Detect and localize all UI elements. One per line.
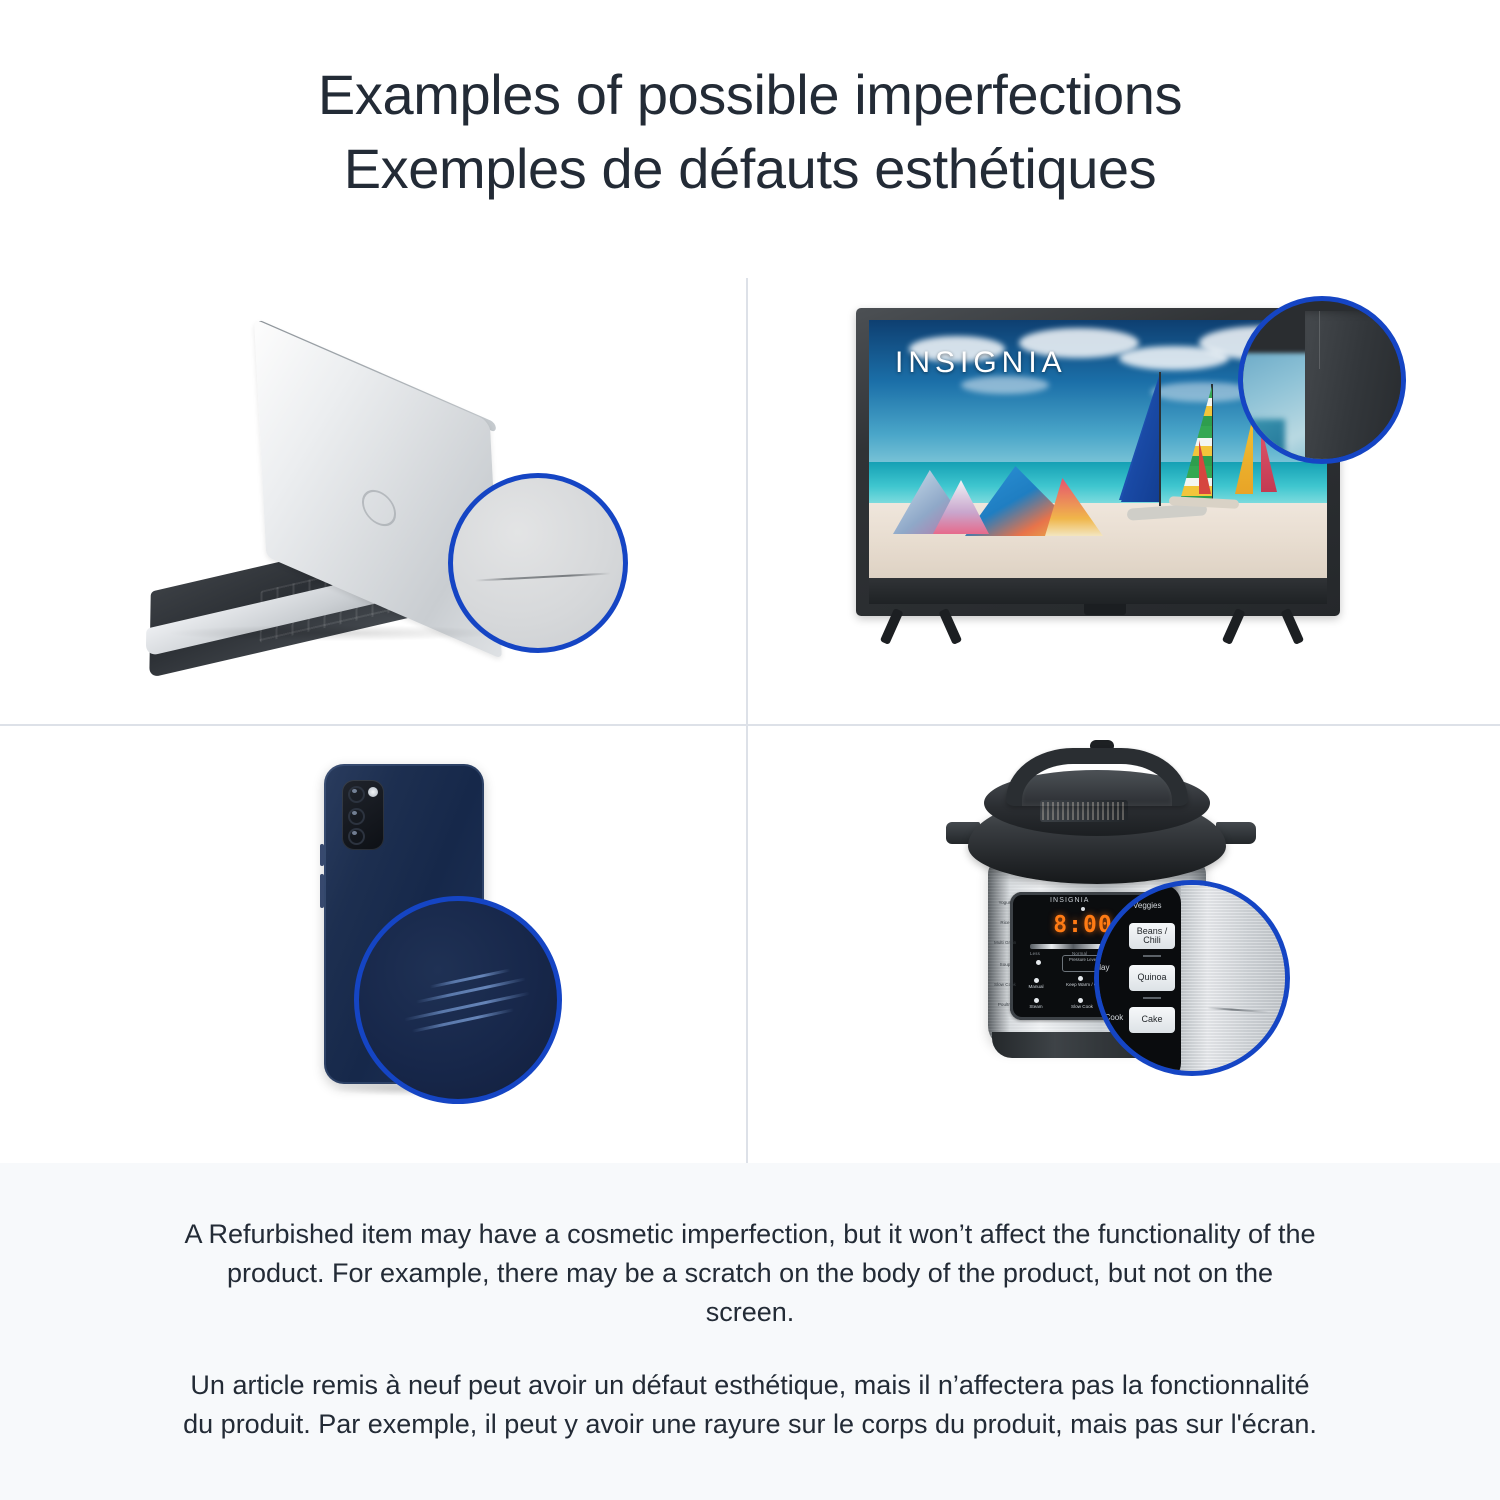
laptop-shadow [170,625,500,641]
page-title-english: Examples of possible imperfections [0,58,1500,132]
magnified-btn-quinoa[interactable]: Quinoa [1129,965,1175,991]
camera-lens-icon [348,808,365,825]
tv-brand-logo: INSIGNIA [895,346,1067,380]
cooker-key-dot[interactable] [1034,978,1039,983]
page-title-french: Exemples de défauts esthétiques [0,132,1500,206]
examples-grid: INSIGNIA [0,278,1500,1163]
magnified-label-slow-cook: Slow Cook [1094,1013,1123,1022]
cooker-btn-slowcook-side[interactable]: Slow Cook [994,982,1016,988]
scratch-mark [404,992,530,1022]
magnifier-tv-bezel-defect [1238,296,1406,464]
cooker-btn-slow-cook[interactable]: Slow Cook [1066,1004,1098,1010]
scratch-mark [475,572,611,581]
magnified-btn-cake[interactable]: Cake [1129,1007,1175,1033]
magnified-bezel-corner [1305,311,1406,464]
cooker-brand-logo: INSIGNIA [1050,897,1090,904]
phone-camera-module [342,780,384,850]
cooker-btn-manual[interactable]: Manual [1022,984,1050,990]
cooker-key-dot[interactable] [1078,976,1083,981]
laptop-illustration [0,278,746,724]
magnified-separator [1143,997,1161,999]
cooker-btn-yogurt[interactable]: Yogurt [994,900,1016,906]
cooker-btn-rice[interactable]: Rice [994,920,1016,926]
magnifier-phone-scratches [354,896,562,1104]
quadrant-pressure-cooker: INSIGNIA 8:00 Less Normal More Pressure … [748,726,1500,1163]
camera-lens-icon [348,828,365,845]
magnified-btn-beans-chili[interactable]: Beans / Chili [1129,923,1175,949]
quadrant-smartphone [0,726,748,1163]
magnified-steel-surface [1181,885,1290,1076]
page-footer: A Refurbished item may have a cosmetic i… [0,1163,1500,1500]
magnified-label-delay: Delay [1094,963,1109,972]
cooker-lid-handle [1006,748,1188,806]
cooker-left-button-column[interactable]: Yogurt Rice Multi Grain Soup Slow Cook P… [996,898,1026,1014]
page-header: Examples of possible imperfections Exemp… [0,0,1500,206]
smartphone-illustration [0,726,746,1163]
mast-shape [1159,372,1161,506]
tv-center-badge [1084,604,1126,615]
cooker-btn-soup[interactable]: Soup [994,962,1016,968]
cooker-status-led [1081,907,1085,911]
tv-leg-left [886,610,962,644]
magnifier-cooker-scratch: Delay Slow Cook Veggies Beans / Chili Qu… [1094,880,1290,1076]
footer-paragraph-french: Un article remis à neuf peut avoir un dé… [180,1366,1320,1444]
cooker-btn-multigrain[interactable]: Multi Grain [994,940,1016,946]
tv-bottom-bezel [869,578,1327,604]
cooker-key-dot[interactable] [1078,998,1083,1003]
footer-paragraph-english: A Refurbished item may have a cosmetic i… [180,1215,1320,1332]
magnifier-laptop-scratch [448,473,628,653]
magnified-label-veggies: Veggies [1133,901,1161,910]
magnified-screen-area [1238,419,1285,464]
quadrant-television: INSIGNIA [748,278,1500,726]
tv-leg-right [1228,610,1304,644]
camera-lens-icon [348,786,365,803]
magnified-separator [1143,955,1161,957]
phone-power-button [320,874,324,908]
cooker-btn-steam[interactable]: Steam [1022,1004,1050,1010]
scratch-mark [412,1008,514,1033]
cooker-key-dot[interactable] [1034,998,1039,1003]
quadrant-laptop [0,278,748,726]
television-illustration: INSIGNIA [748,278,1500,724]
camera-flash-icon [368,787,378,797]
phone-volume-button [320,844,324,866]
scratch-mark [416,977,526,1003]
cooker-label-less: Less [1030,951,1040,956]
pressure-cooker-illustration: INSIGNIA 8:00 Less Normal More Pressure … [748,726,1500,1163]
cooker-btn-poultry[interactable]: Poultry [994,1002,1016,1008]
cooker-minus-key[interactable] [1036,960,1041,965]
